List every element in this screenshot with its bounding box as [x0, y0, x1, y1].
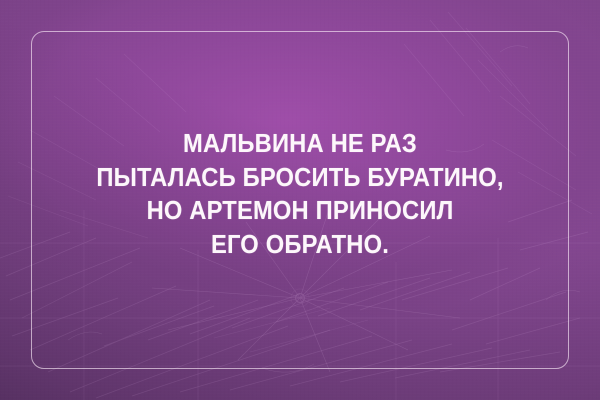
quote-card: МАЛЬВИНА НЕ РАЗ ПЫТАЛАСЬ БРОСИТЬ БУРАТИН… [0, 0, 600, 400]
quote-line: МАЛЬВИНА НЕ РАЗ [21, 128, 579, 162]
quote-text: МАЛЬВИНА НЕ РАЗ ПЫТАЛАСЬ БРОСИТЬ БУРАТИН… [21, 128, 579, 262]
quote-line: ПЫТАЛАСЬ БРОСИТЬ БУРАТИНО, [21, 162, 579, 196]
quote-line: ЕГО ОБРАТНО. [21, 229, 579, 263]
quote-line: НО АРТЕМОН ПРИНОСИЛ [21, 195, 579, 229]
